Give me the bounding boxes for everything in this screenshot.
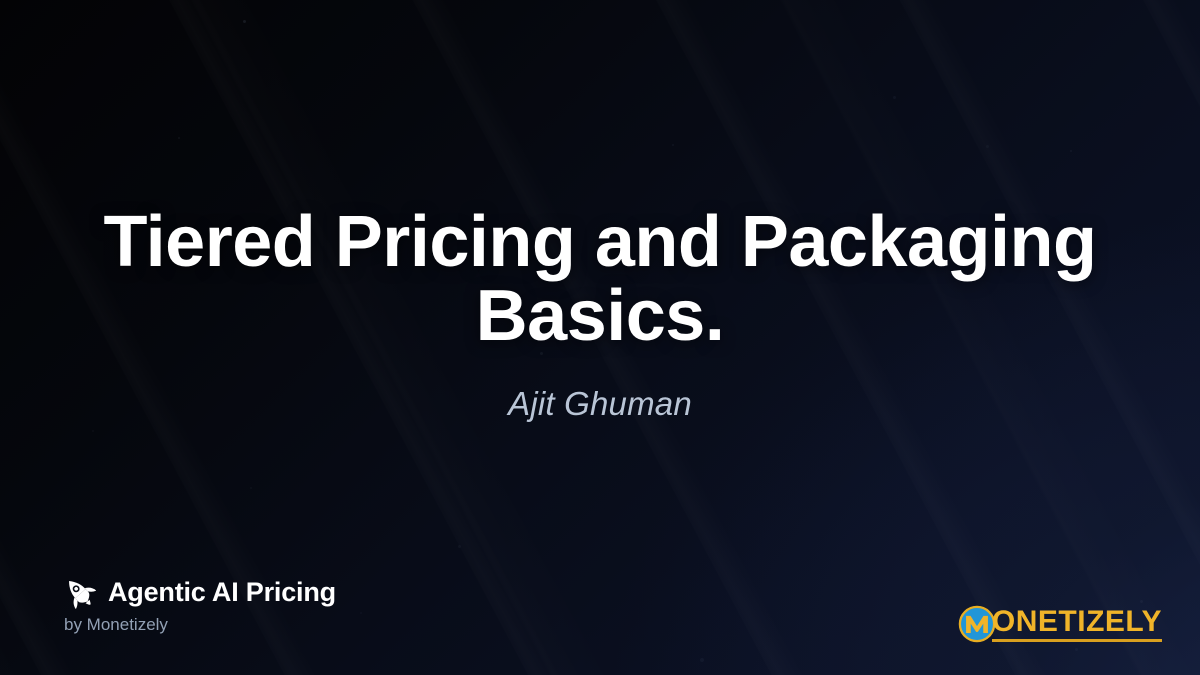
presenter-name: Ajit Ghuman bbox=[0, 385, 1200, 423]
brand-byline: by Monetizely bbox=[64, 615, 336, 635]
rocket-icon bbox=[62, 575, 96, 609]
brand-block: Agentic AI Pricing by Monetizely bbox=[62, 575, 336, 635]
slide-canvas: Tiered Pricing and Packaging Basics. Aji… bbox=[0, 0, 1200, 675]
monetizely-logo: ONETIZELY bbox=[958, 605, 1162, 643]
monetizely-logo-mark-icon bbox=[958, 605, 996, 643]
monetizely-wordmark: ONETIZELY bbox=[992, 607, 1162, 642]
brand-name: Agentic AI Pricing bbox=[108, 577, 336, 608]
brand-row: Agentic AI Pricing bbox=[62, 575, 336, 609]
page-title: Tiered Pricing and Packaging Basics. bbox=[0, 206, 1200, 353]
